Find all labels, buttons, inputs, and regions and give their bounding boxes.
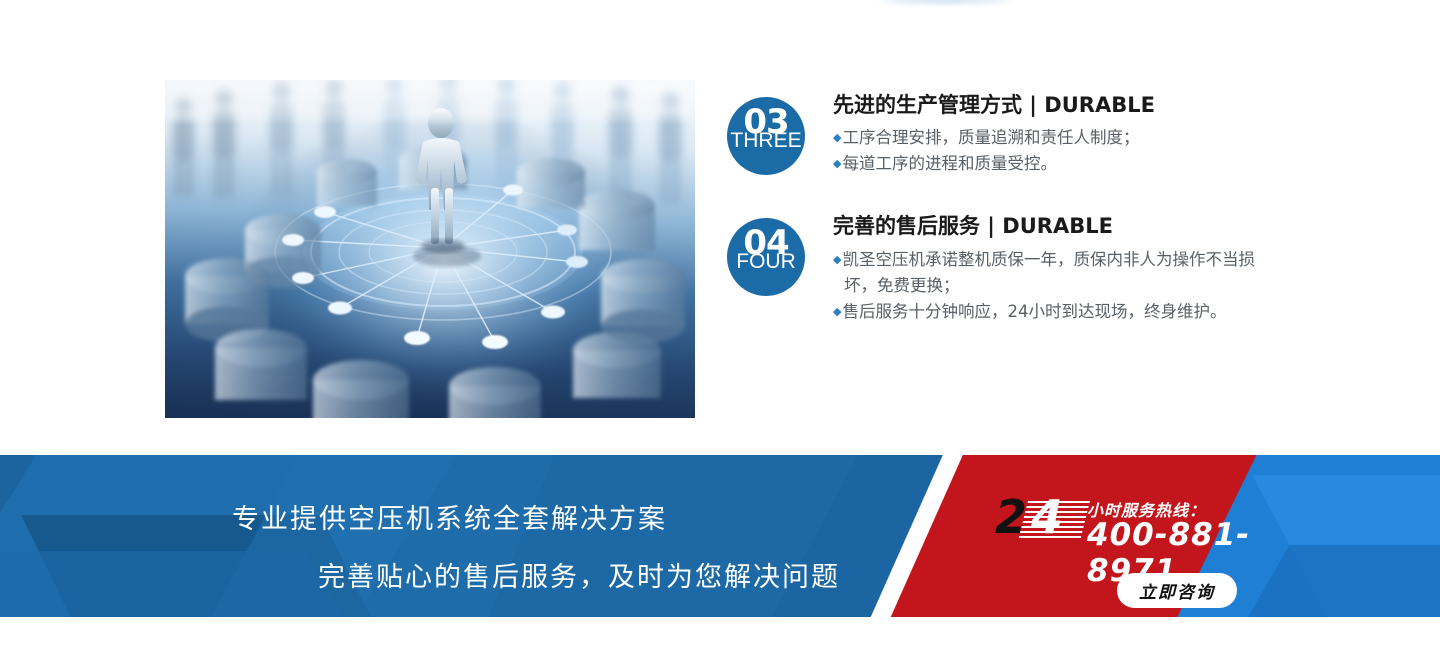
slogan-line-2: 完善贴心的售后服务，及时为您解决问题 xyxy=(318,555,840,594)
feature-title: 先进的生产管理方式 | DURABLE xyxy=(833,92,1155,118)
feature-title: 完善的售后服务 | DURABLE xyxy=(833,213,1264,239)
feature-line: ◆工序合理安排，质量追溯和责任人制度； xyxy=(833,125,1155,151)
slogan-line-1: 专业提供空压机系统全套解决方案 xyxy=(232,497,667,536)
diamond-bullet-icon: ◆ xyxy=(833,131,841,144)
feature-lines: ◆凯圣空压机承诺整机质保一年，质保内非人为操作不当损坏，免费更换； ◆售后服务十… xyxy=(833,247,1264,325)
feature-line-text: 售后服务十分钟响应，24小时到达现场，终身维护。 xyxy=(842,302,1226,321)
badge-03: 03 THREE xyxy=(727,97,805,175)
digit-two: 2 xyxy=(995,494,1027,540)
badge-04: 04 FOUR xyxy=(727,218,805,296)
feature-line-text: 工序合理安排，质量追溯和责任人制度； xyxy=(842,128,1139,147)
cta-banner: 专业提供空压机系统全套解决方案 完善贴心的售后服务，及时为您解决问题 2 4 小… xyxy=(0,455,1440,617)
content-area: 03 THREE 先进的生产管理方式 | DURABLE ◆工序合理安排，质量追… xyxy=(0,0,1440,455)
feature-line-text: 凯圣空压机承诺整机质保一年，质保内非人为操作不当损坏，免费更换； xyxy=(842,250,1255,295)
hotline-block: 2 4 小时服务热线： 400-881-8971 立即咨询 xyxy=(995,497,1265,607)
badge-word: THREE xyxy=(727,130,805,151)
feature-line: ◆凯圣空压机承诺整机质保一年，质保内非人为操作不当损坏，免费更换； xyxy=(833,247,1264,299)
consult-now-button[interactable]: 立即咨询 xyxy=(1117,573,1237,608)
diamond-bullet-icon: ◆ xyxy=(833,305,841,318)
feature-line: ◆每道工序的进程和质量受控。 xyxy=(833,151,1155,177)
network-connection-image xyxy=(165,80,695,418)
feature-body: 先进的生产管理方式 | DURABLE ◆工序合理安排，质量追溯和责任人制度； … xyxy=(833,92,1155,177)
twentyfour-hour-logo: 2 4 xyxy=(995,497,1081,547)
feature-line: ◆售后服务十分钟响应，24小时到达现场，终身维护。 xyxy=(833,299,1264,325)
network-illustration-svg xyxy=(165,80,695,418)
banner-slogan: 专业提供空压机系统全套解决方案 完善贴心的售后服务，及时为您解决问题 xyxy=(0,455,900,617)
feature-list: 03 THREE 先进的生产管理方式 | DURABLE ◆工序合理安排，质量追… xyxy=(727,92,1287,325)
diamond-bullet-icon: ◆ xyxy=(833,253,841,266)
feature-line-text: 每道工序的进程和质量受控。 xyxy=(842,154,1057,173)
feature-lines: ◆工序合理安排，质量追溯和责任人制度； ◆每道工序的进程和质量受控。 xyxy=(833,125,1155,177)
feature-item-04: 04 FOUR 完善的售后服务 | DURABLE ◆凯圣空压机承诺整机质保一年… xyxy=(727,213,1287,324)
diamond-bullet-icon: ◆ xyxy=(833,157,841,170)
feature-body: 完善的售后服务 | DURABLE ◆凯圣空压机承诺整机质保一年，质保内非人为操… xyxy=(833,213,1264,324)
badge-word: FOUR xyxy=(727,251,805,272)
feature-item-03: 03 THREE 先进的生产管理方式 | DURABLE ◆工序合理安排，质量追… xyxy=(727,92,1287,177)
digit-four: 4 xyxy=(1031,494,1063,540)
